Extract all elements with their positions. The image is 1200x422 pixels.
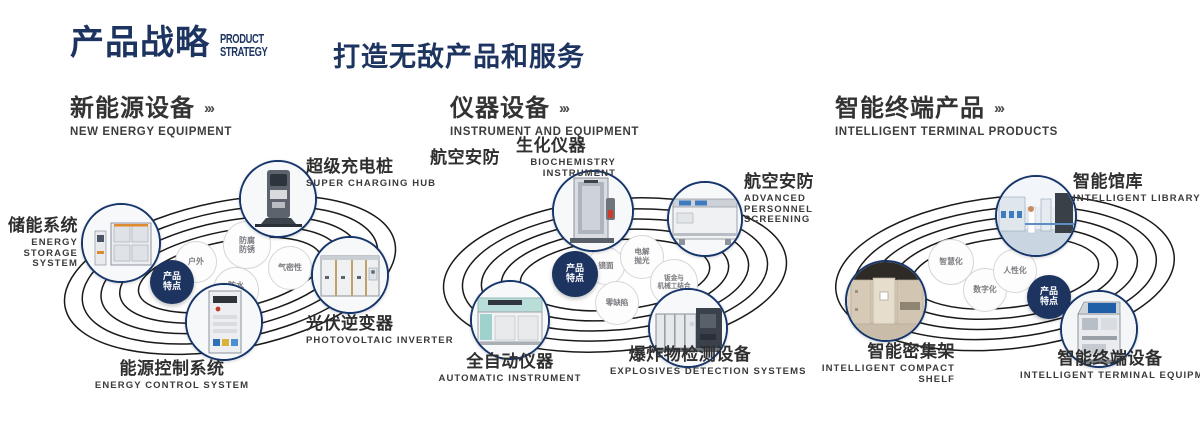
poster-canvas: 产品战略 PRODUCT STRATEGY 打造无敌产品和服务 新能源设备 ››…	[0, 0, 1200, 422]
section-heading-en: INTELLIGENT TERMINAL PRODUCTS	[835, 126, 1058, 138]
control-cabinet-icon	[187, 285, 261, 359]
label-energy-storage-system: 储能系统 ENERGY STORAGE SYSTEM	[0, 217, 78, 270]
page-title-en-line2: STRATEGY	[220, 45, 267, 58]
section-heading-cn: 仪器设备	[450, 96, 550, 121]
node-intelligent-compact-shelf[interactable]	[845, 260, 927, 342]
section-heading-en: NEW ENERGY EQUIPMENT	[70, 126, 232, 138]
label-intelligent-library: 智能馆库 INTELLIGENT LIBRARY	[1073, 173, 1200, 205]
cluster-instrument: 镜面 电解抛光 钣金与机械工结合 零缺陷 产品特点 航空安防 生化仪器	[420, 155, 810, 385]
label-aviation-security-left: 航空安防	[430, 149, 500, 168]
page-title-cn: 产品战略	[70, 26, 210, 60]
chevron-right-icon: ›››	[994, 100, 1003, 117]
chevron-right-icon: ›››	[204, 100, 213, 117]
section-heading-intelligent-terminal: 智能终端产品 ››› INTELLIGENT TERMINAL PRODUCTS	[835, 96, 1058, 138]
cluster-intelligent-terminal: 智慧化 数字化 人性化 产品特点 智能馆库	[815, 155, 1200, 385]
label-intelligent-terminal-equipment: 智能终端设备 INTELLIGENT TERMINAL EQUIPMENT	[1020, 350, 1200, 382]
security-gate-icon	[554, 172, 632, 250]
node-automatic-instrument[interactable]	[470, 280, 550, 360]
label-automatic-instrument: 全自动仪器 AUTOMATIC INSTRUMENT	[430, 353, 590, 385]
node-biochemistry-instrument[interactable]	[552, 170, 634, 252]
label-biochemistry-instrument: 生化仪器 BIOCHEMISTRY INSTRUMENT	[516, 137, 621, 179]
node-energy-storage-system[interactable]	[81, 203, 161, 283]
screening-machine-icon	[669, 183, 741, 255]
battery-cabinet-icon	[83, 205, 159, 281]
node-photovoltaic-inverter[interactable]	[311, 236, 389, 314]
library-room-icon	[997, 177, 1075, 255]
section-heading-instrument: 仪器设备 ››› INSTRUMENT AND EQUIPMENT	[450, 96, 639, 138]
section-heading-new-energy: 新能源设备 ››› NEW ENERGY EQUIPMENT	[70, 96, 232, 138]
feature-bubble: 气密性	[268, 246, 312, 290]
label-explosives-detection-systems: 爆炸物检测设备 EXPLOSIVES DETECTION SYSTEMS	[610, 346, 770, 378]
label-energy-control-system: 能源控制系统 ENERGY CONTROL SYSTEM	[82, 360, 262, 392]
cluster-new-energy: 户外 防腐防锈 防水防尘 气密性 产品特点 储能系统 EN	[40, 155, 420, 385]
page-title: 产品战略 PRODUCT STRATEGY	[70, 26, 286, 60]
feature-bubble: 零缺陷	[595, 281, 639, 325]
section-heading-cn: 新能源设备	[70, 96, 195, 121]
node-intelligent-library[interactable]	[995, 175, 1077, 257]
page-subtitle: 打造无敌产品和服务	[333, 35, 585, 74]
label-intelligent-compact-shelf: 智能密集架 INTELLIGENT COMPACT SHELF	[795, 343, 955, 385]
auto-analyzer-icon	[472, 282, 548, 358]
inverter-cabinet-icon	[313, 238, 387, 312]
node-advanced-personnel-screening[interactable]	[667, 181, 743, 257]
charging-pile-icon	[241, 162, 315, 236]
chevron-right-icon: ›››	[559, 100, 568, 117]
section-heading-cn: 智能终端产品	[835, 96, 985, 121]
node-energy-control-system[interactable]	[185, 283, 263, 361]
page-title-en: PRODUCT STRATEGY	[220, 32, 267, 58]
compact-shelf-icon	[847, 262, 925, 340]
core-badge-product-features: 产品特点	[552, 251, 598, 297]
label-super-charging-hub: 超级充电桩 SUPER CHARGING HUB	[306, 158, 436, 190]
